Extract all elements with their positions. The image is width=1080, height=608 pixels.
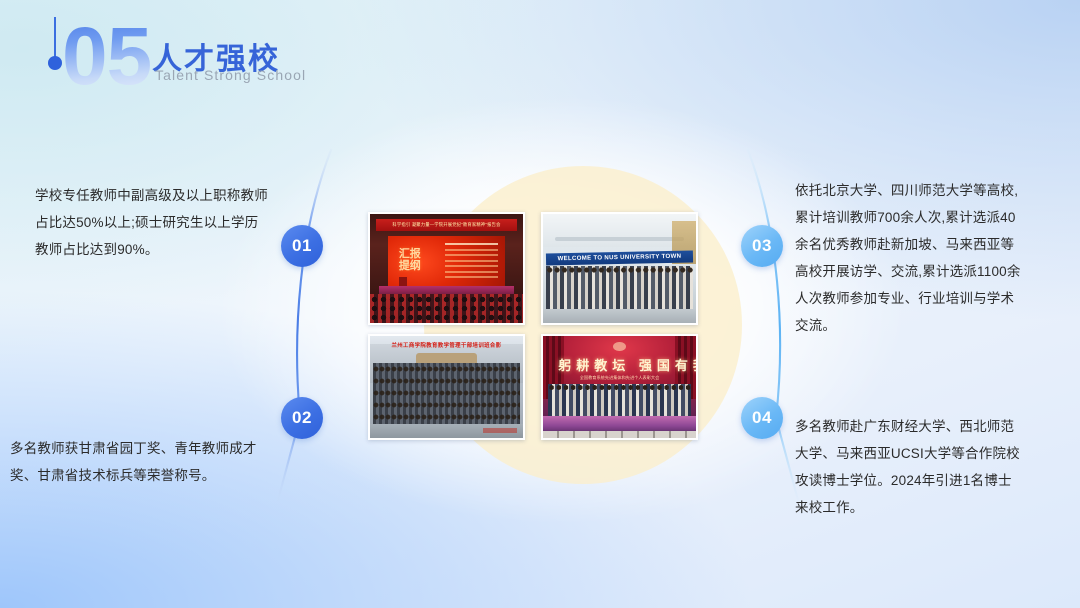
slide-root: 05 人才强校 Talent Strong School 01 0 [0,0,1080,608]
photo2-banner-text: WELCOME TO NUS UNIVERSITY TOWN [558,253,682,263]
photo4-subtitle-text: 全国教育系统先进集体和先进个人表彰大会 [564,375,674,381]
photo3-heads [373,363,520,424]
text-block-01: 学校专任教师中副高级及以上职称教师占比达50%以上;硕士研究生以上学历教师占比达… [35,182,270,263]
pin-dot-icon [48,56,62,70]
photo1-screen-title: 汇报提纲 [399,249,421,272]
photo1-banner: 科学指引 凝聚力量—学院开展党纪"教育家精神"报告会 [376,219,517,231]
text-block-03: 依托北京大学、四川师范大学等高校,累计培训教师700余人次,累计选派40余名优秀… [795,177,1023,339]
photo1-banner-text: 科学指引 凝聚力量—学院开展党纪"教育家精神"报告会 [392,222,500,228]
text-block-04: 多名教师赴广东财经大学、西北师范大学、马来西亚UCSI大学等合作院校攻读博士学位… [795,413,1023,521]
photo4-stage-apron [543,431,696,438]
badge-01[interactable]: 01 [281,225,323,267]
section-number: 05 [62,16,151,98]
page-subtitle: Talent Strong School [155,67,306,83]
badge-03[interactable]: 03 [741,225,783,267]
photo2-heads [546,265,693,276]
text-block-02: 多名教师获甘肃省园丁奖、青年教师成才奖、甘肃省技术标兵等荣誉称号。 [10,435,275,489]
photo3-banner-text: 兰州工商学院教育教学管理干部培训班合影 [379,341,514,349]
slide-header: 05 人才强校 Talent Strong School [0,0,1080,120]
badge-02[interactable]: 02 [281,397,323,439]
photo-grid: 科学指引 凝聚力量—学院开展党纪"教育家精神"报告会 汇报提纲 WELCOME … [368,212,698,444]
photo2-balcony-rail [555,237,684,241]
badge-04[interactable]: 04 [741,397,783,439]
photo4-emblem [613,342,625,351]
photo-nus-university-town-group[interactable]: WELCOME TO NUS UNIVERSITY TOWN [541,212,698,325]
photo-faculty-group-photo[interactable]: 兰州工商学院教育教学管理干部培训班合影 [368,334,525,440]
photo2-floor [543,309,696,323]
photo3-watermark [483,428,517,433]
photo1-audience [370,295,523,323]
photo4-heads [548,383,692,392]
photo4-banner-text: 躬耕教坛 强国有我 [558,355,680,374]
photo-auditorium-report-meeting[interactable]: 科学指引 凝聚力量—学院开展党纪"教育家精神"报告会 汇报提纲 [368,212,525,325]
photo-teacher-award-ceremony[interactable]: 躬耕教坛 强国有我 全国教育系统先进集体和先进个人表彰大会 [541,334,698,440]
pin-line-icon [54,17,56,59]
photo1-screen-list [445,243,497,281]
